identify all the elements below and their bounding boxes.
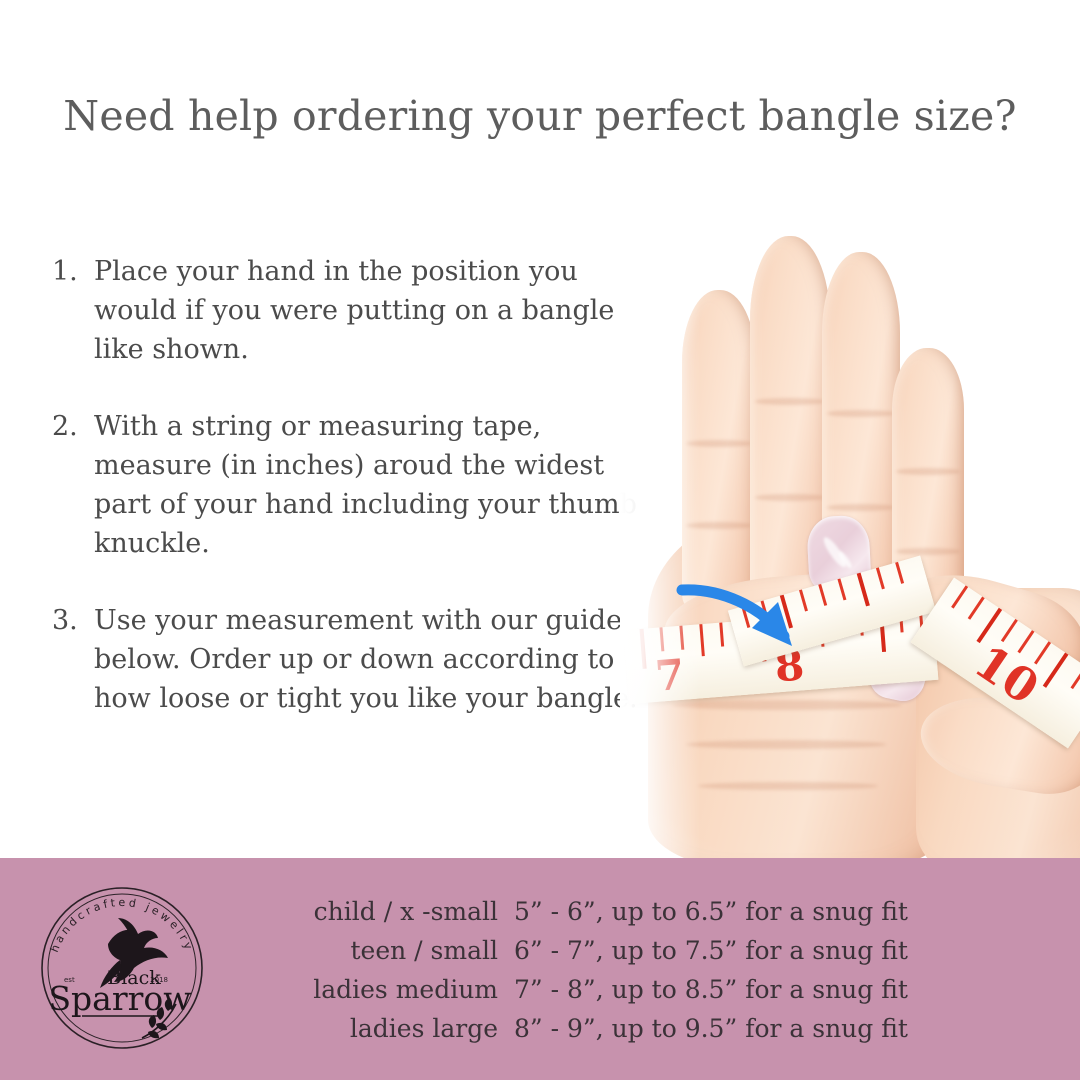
step-text: Place your hand in the position you woul… [94, 252, 652, 369]
size-range: 6” - 7”, up to 7.5” for a snug fit [514, 931, 1030, 970]
blue-arrow-icon [674, 578, 824, 674]
black-sparrow-logo: handcrafted jewelry est 2018 Black Sparr… [34, 880, 210, 1056]
step-number: 1. [52, 252, 94, 291]
list-item: 1. Place your hand in the position you w… [52, 252, 652, 369]
step-number: 3. [52, 601, 94, 640]
size-range: 7” - 8”, up to 8.5” for a snug fit [514, 970, 1030, 1009]
column-gap [498, 970, 514, 1009]
size-name: ladies medium [240, 970, 498, 1009]
size-range: 5” - 6”, up to 6.5” for a snug fit [514, 892, 1030, 931]
list-item: 3. Use your measurement with our guide b… [52, 601, 652, 718]
hand-measuring-photo: 7 8 10 [620, 180, 1080, 870]
instruction-list: 1. Place your hand in the position you w… [52, 252, 652, 756]
palm-crease [686, 740, 886, 749]
finger-index [682, 290, 756, 620]
column-gap [498, 892, 514, 931]
column-gap [498, 1009, 514, 1048]
size-chart-table: child / x -small 5” - 6”, up to 6.5” for… [240, 892, 1030, 1048]
bangle-size-guide-page: Need help ordering your perfect bangle s… [0, 0, 1080, 1080]
palm-crease [672, 700, 902, 710]
size-chart-band: handcrafted jewelry est 2018 Black Sparr… [0, 858, 1080, 1080]
list-item: 2. With a string or measuring tape, meas… [52, 407, 652, 563]
step-number: 2. [52, 407, 94, 446]
step-text: Use your measurement with our guide belo… [94, 601, 652, 718]
column-gap [498, 931, 514, 970]
page-title: Need help ordering your perfect bangle s… [0, 92, 1080, 140]
step-text: With a string or measuring tape, measure… [94, 407, 652, 563]
size-name: ladies large [240, 1009, 498, 1048]
size-range: 8” - 9”, up to 9.5” for a snug fit [514, 1009, 1030, 1048]
size-name: child / x -small [240, 892, 498, 931]
size-name: teen / small [240, 931, 498, 970]
palm-crease [698, 782, 878, 790]
